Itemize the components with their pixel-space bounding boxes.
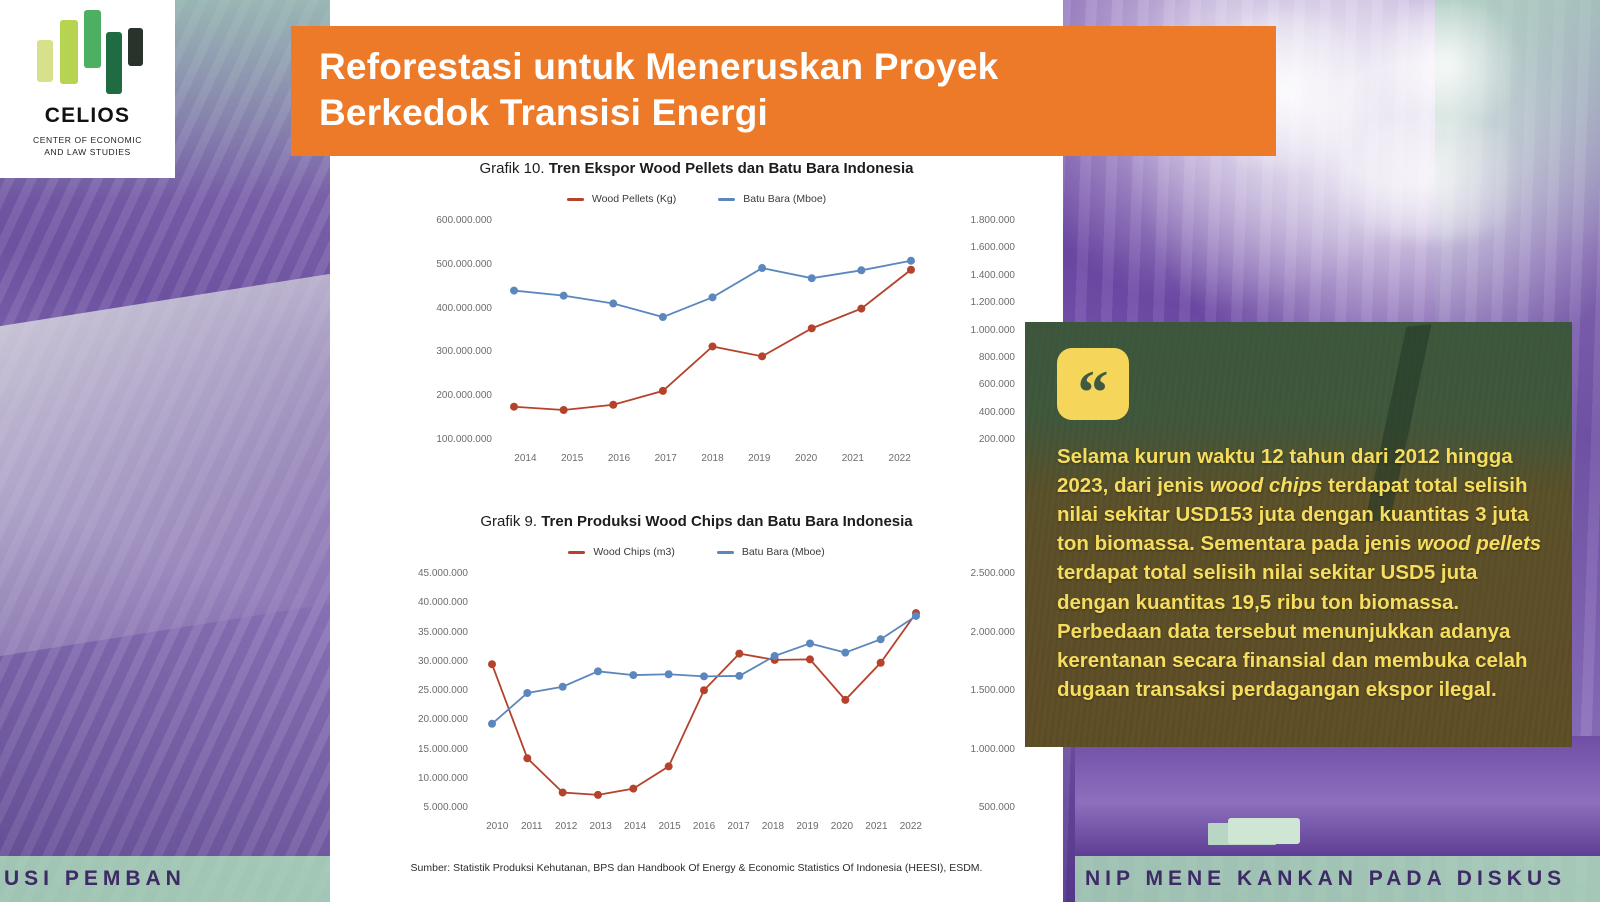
- axis-tick: 2011: [514, 821, 548, 832]
- data-point: [735, 650, 743, 658]
- legend-item-wood-chips[interactable]: Wood Chips (m3): [568, 546, 675, 558]
- data-point: [708, 342, 716, 350]
- axis-tick: 400.000: [935, 407, 1015, 418]
- data-point: [609, 300, 617, 308]
- celios-logo: CELIOS CENTER OF ECONOMICAND LAW STUDIES: [0, 0, 175, 178]
- background-road: [1075, 736, 1600, 856]
- smoke-plume-icon: [1310, 120, 1550, 240]
- axis-tick: 600.000.000: [402, 215, 492, 226]
- photo-caption-left: USI PEMBAN: [0, 856, 330, 902]
- quote-paragraph: Selama kurun waktu 12 tahun dari 2012 hi…: [1057, 442, 1542, 704]
- axis-tick: 2014: [618, 821, 652, 832]
- axis-tick: 2020: [825, 821, 859, 832]
- data-point: [808, 324, 816, 332]
- axis-tick: 2022: [876, 453, 923, 464]
- smoke-plume-icon: [1360, 0, 1530, 130]
- data-point: [665, 762, 673, 770]
- data-point: [488, 660, 496, 668]
- data-point: [510, 403, 518, 411]
- data-point: [857, 305, 865, 313]
- data-point: [857, 266, 865, 274]
- data-point: [629, 671, 637, 679]
- logo-subtitle-line: AND LAW STUDIES: [33, 146, 142, 158]
- data-point: [594, 667, 602, 675]
- logo-subtitle: CENTER OF ECONOMICAND LAW STUDIES: [33, 134, 142, 159]
- legend-swatch-icon: [567, 198, 584, 201]
- chart-svg: [502, 215, 923, 445]
- logo-subtitle-line: CENTER OF ECONOMIC: [33, 134, 142, 146]
- data-point: [735, 672, 743, 680]
- slide-canvas: USI PEMBAN NIP MENE KANKAN PADA DISKUS G…: [0, 0, 1600, 902]
- axis-tick: 2019: [790, 821, 824, 832]
- y-axis-left-ticks: 45.000.00040.000.00035.000.00030.000.000…: [378, 568, 468, 813]
- data-point: [877, 635, 885, 643]
- data-point: [609, 401, 617, 409]
- chart-legend: Wood Chips (m3) Batu Bara (Mboe): [330, 546, 1063, 558]
- data-point: [665, 670, 673, 678]
- axis-tick: 1.000.000: [935, 744, 1015, 755]
- data-point: [877, 659, 885, 667]
- axis-tick: 2021: [829, 453, 876, 464]
- quote-card: “ Selama kurun waktu 12 tahun dari 2012 …: [1025, 322, 1572, 747]
- y-axis-left-ticks: 600.000.000500.000.000400.000.000300.000…: [402, 215, 492, 445]
- axis-tick: 300.000.000: [402, 346, 492, 357]
- axis-tick: 500.000.000: [402, 259, 492, 270]
- series-line: [514, 270, 911, 410]
- data-point: [806, 655, 814, 663]
- axis-tick: 35.000.000: [378, 627, 468, 638]
- logo-bar-icon: [128, 28, 143, 66]
- axis-tick: 800.000: [935, 352, 1015, 363]
- legend-item-batu-bara[interactable]: Batu Bara (Mboe): [717, 546, 825, 558]
- axis-tick: 2018: [756, 821, 790, 832]
- data-point: [523, 689, 531, 697]
- legend-label: Batu Bara (Mboe): [743, 193, 826, 205]
- chart-legend: Wood Pellets (Kg) Batu Bara (Mboe): [330, 193, 1063, 205]
- axis-tick: 2019: [736, 453, 783, 464]
- axis-tick: 2020: [783, 453, 830, 464]
- data-point: [594, 791, 602, 799]
- quote-mark-icon: “: [1057, 348, 1129, 420]
- data-point: [560, 406, 568, 414]
- logo-bar-icon: [84, 10, 101, 68]
- title-banner: Reforestasi untuk Meneruskan Proyek Berk…: [291, 26, 1276, 156]
- logo-name: CELIOS: [45, 104, 130, 128]
- chart-title-prefix: Grafik 10.: [479, 160, 548, 177]
- plot-wrapper: 45.000.00040.000.00035.000.00030.000.000…: [330, 568, 1063, 813]
- logo-bar-icon: [106, 32, 122, 94]
- data-point: [808, 274, 816, 282]
- axis-tick: 2012: [549, 821, 583, 832]
- axis-tick: 2017: [721, 821, 755, 832]
- series-line: [492, 616, 916, 724]
- legend-label: Wood Pellets (Kg): [592, 193, 676, 205]
- axis-tick: 400.000.000: [402, 303, 492, 314]
- axis-tick: 1.400.000: [935, 270, 1015, 281]
- axis-tick: 1.000.000: [935, 325, 1015, 336]
- axis-tick: 5.000.000: [378, 802, 468, 813]
- axis-tick: 10.000.000: [378, 773, 468, 784]
- axis-tick: 200.000.000: [402, 390, 492, 401]
- legend-item-batu-bara[interactable]: Batu Bara (Mboe): [718, 193, 826, 205]
- truck-icon: [1228, 818, 1300, 844]
- axis-tick: 100.000.000: [402, 434, 492, 445]
- data-point: [771, 652, 779, 660]
- axis-tick: 2014: [502, 453, 549, 464]
- data-point: [806, 639, 814, 647]
- photo-caption-right: NIP MENE KANKAN PADA DISKUS: [1075, 856, 1600, 902]
- axis-tick: 2010: [480, 821, 514, 832]
- chart-title-prefix: Grafik 9.: [480, 513, 541, 530]
- logo-bar-icon: [60, 20, 78, 84]
- data-point: [907, 257, 915, 265]
- axis-tick: 200.000: [935, 434, 1015, 445]
- data-point: [758, 264, 766, 272]
- series-line: [492, 613, 916, 795]
- axis-tick: 20.000.000: [378, 714, 468, 725]
- axis-tick: 2.500.000: [935, 568, 1015, 579]
- axis-tick: 15.000.000: [378, 744, 468, 755]
- legend-swatch-icon: [717, 551, 734, 554]
- axis-tick: 1.800.000: [935, 215, 1015, 226]
- data-point: [629, 785, 637, 793]
- data-point: [907, 266, 915, 274]
- axis-tick: 2016: [596, 453, 643, 464]
- legend-label: Batu Bara (Mboe): [742, 546, 825, 558]
- axis-tick: 25.000.000: [378, 685, 468, 696]
- chart-title: Grafik 9. Tren Produksi Wood Chips dan B…: [330, 513, 1063, 530]
- plot-area: [502, 215, 923, 445]
- plot-wrapper: 600.000.000500.000.000400.000.000300.000…: [330, 215, 1063, 445]
- axis-tick: 2015: [549, 453, 596, 464]
- axis-tick: 2022: [894, 821, 928, 832]
- data-point: [912, 612, 920, 620]
- axis-tick: 500.000: [935, 802, 1015, 813]
- plot-area: [480, 568, 928, 813]
- logo-bar-icon: [37, 40, 53, 82]
- data-point: [700, 672, 708, 680]
- axis-tick: 600.000: [935, 379, 1015, 390]
- chart-grafik-9: Grafik 9. Tren Produksi Wood Chips dan B…: [330, 513, 1063, 832]
- logo-bars-icon: [29, 10, 147, 94]
- data-point: [659, 387, 667, 395]
- axis-tick: 2013: [583, 821, 617, 832]
- data-point: [559, 788, 567, 796]
- data-point: [523, 754, 531, 762]
- chart-title: Grafik 10. Tren Ekspor Wood Pellets dan …: [330, 160, 1063, 177]
- data-point: [488, 720, 496, 728]
- axis-tick: 2018: [689, 453, 736, 464]
- data-point: [758, 352, 766, 360]
- chart-title-main: Tren Produksi Wood Chips dan Batu Bara I…: [541, 513, 912, 530]
- axis-tick: 2015: [652, 821, 686, 832]
- legend-item-wood-pellets[interactable]: Wood Pellets (Kg): [567, 193, 676, 205]
- y-axis-right-ticks: 1.800.0001.600.0001.400.0001.200.0001.00…: [935, 215, 1015, 445]
- axis-tick: 30.000.000: [378, 656, 468, 667]
- axis-tick: 45.000.000: [378, 568, 468, 579]
- x-axis-ticks: 201420152016201720182019202020212022: [502, 453, 923, 464]
- data-point: [559, 683, 567, 691]
- chart-grafik-10: Grafik 10. Tren Ekspor Wood Pellets dan …: [330, 160, 1063, 464]
- axis-tick: 2021: [859, 821, 893, 832]
- axis-tick: 40.000.000: [378, 597, 468, 608]
- legend-label: Wood Chips (m3): [593, 546, 675, 558]
- data-point: [700, 686, 708, 694]
- data-point: [708, 293, 716, 301]
- chart-title-main: Tren Ekspor Wood Pellets dan Batu Bara I…: [549, 160, 914, 177]
- data-point: [560, 292, 568, 300]
- data-point: [841, 649, 849, 657]
- axis-tick: 1.600.000: [935, 242, 1015, 253]
- chart-svg: [480, 568, 928, 813]
- data-point: [510, 287, 518, 295]
- axis-tick: 2.000.000: [935, 627, 1015, 638]
- series-line: [514, 261, 911, 317]
- page-title: Reforestasi untuk Meneruskan Proyek Berk…: [319, 44, 998, 136]
- x-axis-ticks: 2010201120122013201420152016201720182019…: [480, 821, 928, 832]
- axis-tick: 1.200.000: [935, 297, 1015, 308]
- legend-swatch-icon: [718, 198, 735, 201]
- source-note: Sumber: Statistik Produksi Kehutanan, BP…: [330, 862, 1063, 874]
- y-axis-right-ticks: 2.500.0002.000.0001.500.0001.000.000500.…: [935, 568, 1015, 813]
- axis-tick: 2017: [642, 453, 689, 464]
- axis-tick: 2016: [687, 821, 721, 832]
- data-point: [659, 313, 667, 321]
- data-point: [841, 696, 849, 704]
- legend-swatch-icon: [568, 551, 585, 554]
- axis-tick: 1.500.000: [935, 685, 1015, 696]
